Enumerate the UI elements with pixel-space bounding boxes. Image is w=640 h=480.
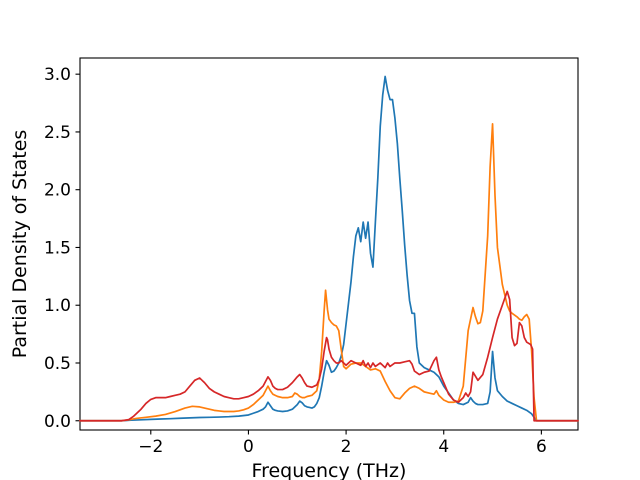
y-axis-label: Partial Density of States	[9, 130, 31, 359]
x-tick-label: −2	[138, 437, 163, 457]
y-tick-label: 2.0	[44, 181, 71, 201]
figure-background	[0, 0, 640, 480]
y-tick-label: 3.0	[44, 65, 71, 85]
x-tick-label: 0	[243, 437, 254, 457]
x-tick-label: 4	[438, 437, 449, 457]
y-tick-label: 1.5	[44, 238, 71, 258]
y-tick-label: 0.0	[44, 412, 71, 432]
figure-canvas: −20246 0.00.51.01.52.02.53.0 Frequency (…	[0, 0, 640, 480]
dos-line-chart: −20246 0.00.51.01.52.02.53.0 Frequency (…	[0, 0, 640, 480]
x-tick-label: 2	[341, 437, 352, 457]
y-tick-label: 2.5	[44, 123, 71, 143]
x-axis-label: Frequency (THz)	[252, 460, 407, 480]
y-tick-label: 0.5	[44, 354, 71, 374]
x-tick-label: 6	[536, 437, 547, 457]
y-tick-label: 1.0	[44, 296, 71, 316]
